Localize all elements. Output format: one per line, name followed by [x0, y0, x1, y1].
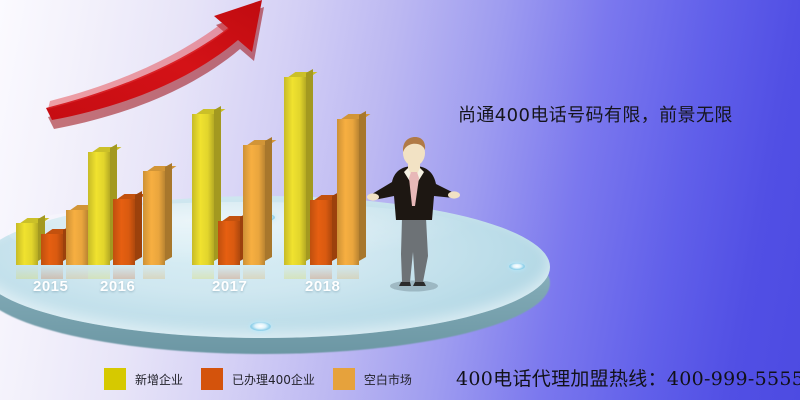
chart-bar [337, 119, 359, 265]
chart-bar-face [113, 199, 135, 265]
year-label-2015: 2015 [33, 278, 68, 295]
person-trousers [401, 218, 428, 282]
chart-bar-face [192, 114, 214, 265]
chart-bar-face [284, 77, 306, 265]
headline-text: 尚通400电话号码有限，前景无限 [458, 101, 733, 127]
legend-label: 已办理400企业 [232, 371, 315, 388]
chart-bar-reflection [113, 265, 135, 279]
chart-bar-reflection [41, 265, 63, 279]
hotline-text: 400电话代理加盟热线：400-999-5555 [456, 364, 800, 391]
person-shoe-right [399, 282, 411, 286]
chart-bar-face [310, 200, 332, 265]
legend-item: 空白市场 [333, 368, 412, 390]
chart-bar-reflection [284, 265, 306, 279]
chart-bar-reflection [16, 265, 38, 279]
chart-bar-face [41, 234, 63, 265]
year-label-2017: 2017 [212, 278, 247, 295]
chart-bar-reflection [243, 265, 265, 279]
chart-bar [41, 234, 63, 265]
chart-bar [243, 145, 265, 265]
chart-bar-reflection [88, 265, 110, 279]
chart-bar-side [265, 137, 272, 261]
chart-bar-face [218, 221, 240, 265]
chart-bar [284, 77, 306, 265]
person-shoe-left [413, 282, 426, 286]
legend-swatch [201, 368, 223, 390]
chart-bar [310, 200, 332, 265]
year-label-2016: 2016 [100, 278, 135, 295]
chart-bar-face [243, 145, 265, 265]
legend-swatch [104, 368, 126, 390]
person-hand-left [448, 191, 460, 198]
chart-bar [143, 171, 165, 265]
legend-label: 空白市场 [364, 371, 412, 388]
chart-bar-reflection [310, 265, 332, 279]
chart-bar-reflection [192, 265, 214, 279]
chart-bar [113, 199, 135, 265]
year-label-2018: 2018 [305, 278, 340, 295]
businessman-illustration [366, 136, 462, 292]
legend-item: 已办理400企业 [201, 368, 315, 390]
chart-bar-face [16, 223, 38, 265]
legend-label: 新增企业 [135, 371, 183, 388]
chart-bar-side [359, 111, 366, 261]
chart-bar-side [165, 163, 172, 261]
chart-legend: 新增企业已办理400企业空白市场 [104, 368, 412, 390]
chart-bar [66, 210, 88, 265]
person-hand-right [367, 193, 379, 200]
chart-bar [88, 152, 110, 265]
legend-swatch [333, 368, 355, 390]
chart-bar [218, 221, 240, 265]
chart-bar [192, 114, 214, 265]
chart-bar-reflection [66, 265, 88, 279]
chart-bar-reflection [337, 265, 359, 279]
chart-bar-face [66, 210, 88, 265]
chart-bar-reflection [218, 265, 240, 279]
legend-item: 新增企业 [104, 368, 183, 390]
chart-bar-face [143, 171, 165, 265]
promo-banner: 2015201620172018 尚通400电话号码有限，前景无限 400电话代… [0, 0, 800, 400]
chart-bar-reflection [143, 265, 165, 279]
chart-bar [16, 223, 38, 265]
chart-bar-side [135, 191, 142, 261]
chart-bar-face [337, 119, 359, 265]
chart-bar-face [88, 152, 110, 265]
